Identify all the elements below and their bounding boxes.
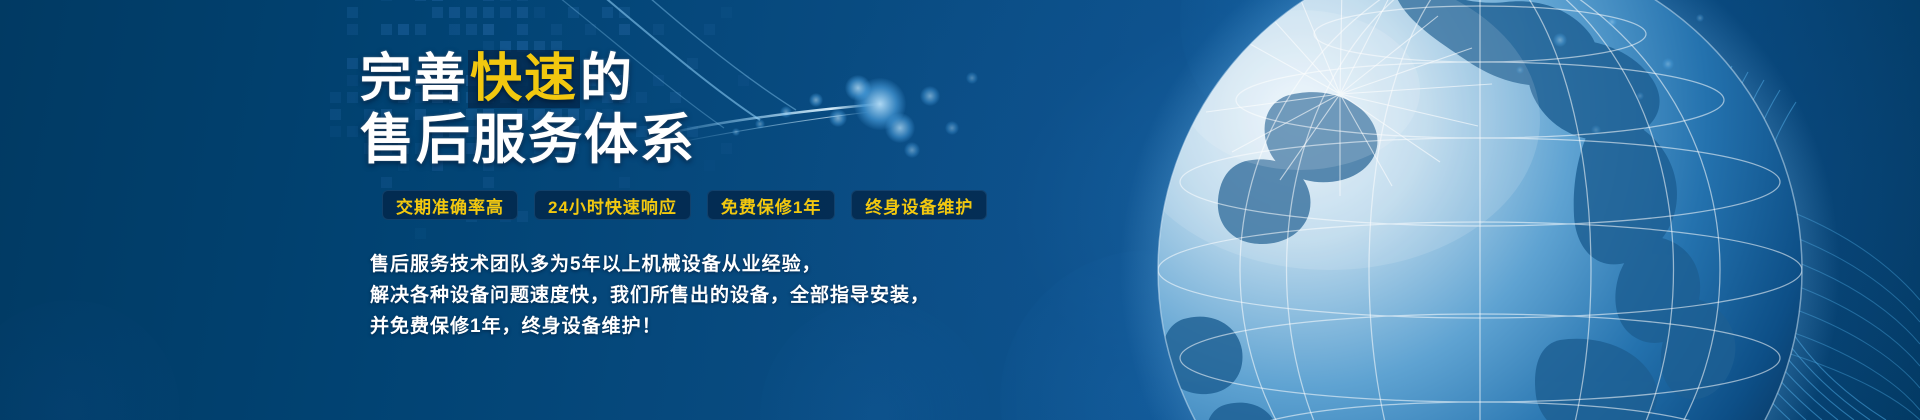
banner-content: 完善快速的 售后服务体系 交期准确率高 24小时快速响应 免费保修1年 终身设备…	[360, 52, 1120, 359]
bokeh-dot	[1607, 17, 1617, 27]
mosaic-square	[704, 24, 715, 35]
bokeh-dot	[1591, 125, 1601, 135]
bokeh-dot	[1553, 33, 1567, 47]
mosaic-square	[585, 24, 596, 35]
mosaic-square	[381, 0, 392, 1]
feature-tag-lifetime-maintenance[interactable]: 终身设备维护	[851, 190, 987, 220]
mosaic-square	[602, 7, 613, 18]
description-line-1: 售后服务技术团队多为5年以上机械设备从业经验，	[370, 250, 1120, 281]
headline-highlight: 快速	[468, 50, 580, 108]
mosaic-square	[347, 58, 358, 69]
mosaic-square	[347, 92, 358, 103]
feature-tag-list: 交期准确率高 24小时快速响应 免费保修1年 终身设备维护	[360, 190, 1120, 220]
mosaic-square	[653, 24, 664, 35]
mosaic-square	[347, 24, 358, 35]
after-sales-service-banner: 完善快速的 售后服务体系 交期准确率高 24小时快速响应 免费保修1年 终身设备…	[0, 0, 1920, 420]
mosaic-square	[398, 24, 409, 35]
mosaic-square	[568, 7, 579, 18]
description-line-2: 解决各种设备问题速度快，我们所售出的设备，全部指导安装，	[370, 281, 1120, 312]
description-line-3: 并免费保修1年，终身设备维护！	[370, 312, 1120, 343]
mosaic-square	[551, 24, 562, 35]
mosaic-square	[721, 7, 732, 18]
bokeh-dot	[1662, 58, 1674, 70]
headline-subject: 售后服务体系	[360, 110, 696, 170]
feature-tag-free-warranty[interactable]: 免费保修1年	[707, 190, 835, 220]
headline-line-1: 完善快速的	[360, 52, 1120, 106]
mosaic-square	[517, 7, 528, 18]
mosaic-square	[381, 24, 392, 35]
mosaic-square	[330, 92, 341, 103]
mosaic-square	[449, 24, 460, 35]
mosaic-square	[432, 7, 443, 18]
headline-part-2: 的	[580, 50, 634, 108]
mosaic-square	[466, 7, 477, 18]
mosaic-square	[500, 0, 511, 1]
mosaic-square	[619, 7, 630, 18]
mosaic-square	[449, 7, 460, 18]
banner-description: 售后服务技术团队多为5年以上机械设备从业经验， 解决各种设备问题速度快，我们所售…	[360, 250, 1120, 342]
feature-tag-24h-response[interactable]: 24小时快速响应	[534, 190, 691, 220]
soft-circle	[0, 300, 180, 420]
bokeh-dot	[1696, 14, 1704, 22]
mosaic-square	[466, 24, 477, 35]
headline-line-2: 售后服务体系	[360, 112, 1120, 168]
bokeh-dot	[1636, 92, 1644, 100]
mosaic-square	[432, 0, 443, 1]
mosaic-square	[347, 126, 358, 137]
page-title: 完善快速的 售后服务体系	[360, 52, 1120, 168]
mosaic-square	[483, 7, 494, 18]
mosaic-square	[347, 75, 358, 86]
mosaic-square	[483, 0, 494, 1]
mosaic-square	[330, 109, 341, 120]
mosaic-square	[415, 24, 426, 35]
mosaic-square	[347, 7, 358, 18]
mosaic-square	[534, 7, 545, 18]
feature-tag-delivery-accuracy[interactable]: 交期准确率高	[382, 190, 518, 220]
mosaic-square	[517, 0, 528, 1]
mosaic-square	[619, 24, 630, 35]
headline-part-1: 完善	[360, 50, 468, 108]
mosaic-square	[500, 7, 511, 18]
mosaic-square	[517, 24, 528, 35]
mosaic-square	[330, 126, 341, 137]
mosaic-square	[415, 0, 426, 1]
mosaic-square	[483, 24, 494, 35]
bokeh-dot	[1516, 66, 1524, 74]
soft-circle	[1180, 0, 1440, 150]
